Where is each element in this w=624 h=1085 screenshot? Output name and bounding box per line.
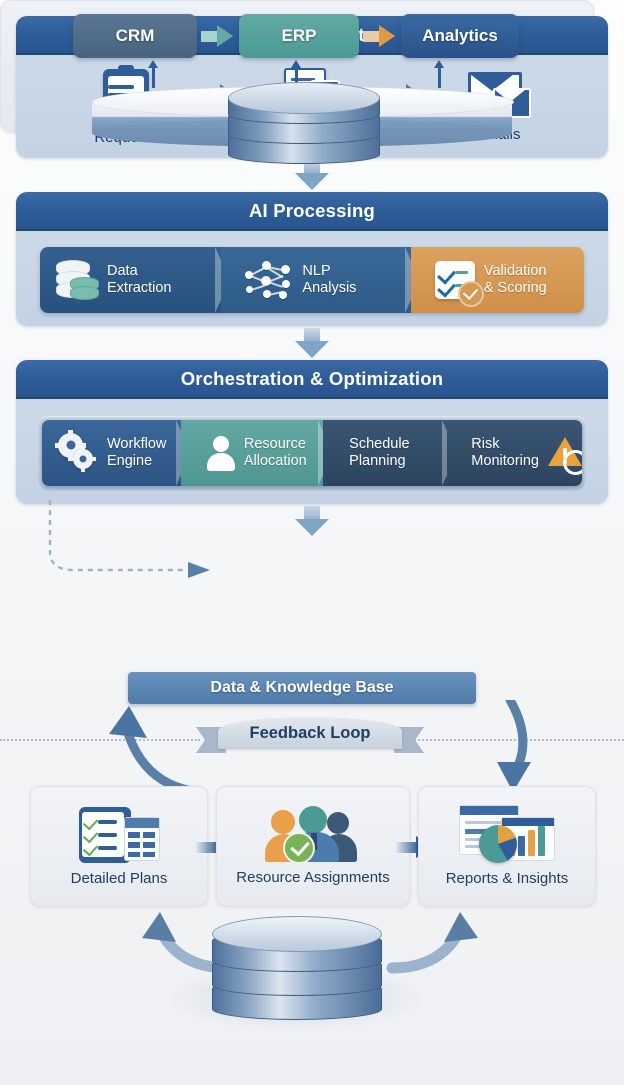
ai-stage-label-2: Validation & Scoring (484, 263, 547, 295)
orchestration-stage-strip: Workflow Engine Resource Allocation Sche… (42, 420, 582, 486)
feedback-loop-label: Feedback Loop (218, 717, 402, 749)
output-label-reports-insights: Reports & Insights (446, 870, 569, 887)
down-arrow-ai-to-orchestration (295, 328, 329, 358)
feedback-arrow-right (415, 700, 545, 795)
feedback-loop-ribbon: Feedback Loop (196, 717, 424, 761)
database-stack-icon (56, 259, 98, 301)
people-check-icon (265, 806, 361, 862)
ai-stage-nlp-analysis[interactable]: NLP Analysis (221, 247, 418, 313)
ai-stage-label-1: NLP Analysis (302, 263, 356, 295)
clipboard-table-icon (77, 805, 161, 863)
charts-icon (457, 805, 557, 863)
orch-stage-label-0: Workflow Engine (107, 436, 166, 468)
ai-stage-label-0: Data Extraction (107, 263, 171, 295)
ai-processing-body: Data Extraction (16, 231, 608, 326)
orch-stage-resource-allocation[interactable]: Resource Allocation (181, 420, 332, 486)
gears-icon (58, 433, 98, 473)
central-database-icon (228, 82, 378, 170)
output-label-resource-assignments: Resource Assignments (236, 869, 389, 886)
orch-stage-workflow-engine[interactable]: Workflow Engine (42, 420, 190, 486)
ai-stage-strip: Data Extraction (40, 247, 584, 313)
pie-chart-icon (479, 825, 517, 863)
systems-row: CRM ERP Analytics (0, 14, 592, 58)
system-arrow-erp-to-analytics (359, 25, 401, 47)
neural-network-icon (245, 259, 293, 301)
ai-stage-validation-scoring[interactable]: Validation & Scoring (411, 247, 584, 313)
up-arrow-to-analytics (434, 60, 444, 88)
orch-stage-label-3: Risk Monitoring (471, 436, 539, 468)
section-ai-processing: AI Processing Data Extraction (16, 192, 608, 326)
diagram-canvas: Project Inputs Requests (0, 0, 624, 1085)
output-card-reports-insights[interactable]: Reports & Insights (418, 786, 596, 906)
output-card-resource-assignments[interactable]: Resource Assignments (216, 786, 410, 906)
down-arrow-orchestration-to-systems (295, 506, 329, 536)
person-icon (207, 435, 235, 471)
orch-stage-risk-monitoring[interactable]: Risk Monitoring (447, 420, 582, 486)
bottom-arc-arrow-right (382, 912, 492, 982)
warning-magnifier-icon (548, 437, 582, 468)
system-arrow-crm-to-erp (197, 25, 239, 47)
orch-stage-label-2: Schedule Planning (349, 436, 409, 468)
output-label-detailed-plans: Detailed Plans (71, 870, 168, 887)
output-card-detailed-plans[interactable]: Detailed Plans (30, 786, 208, 906)
orch-stage-schedule-planning[interactable]: Schedule Planning (323, 420, 456, 486)
orchestration-strip-wrap: Workflow Engine Resource Allocation Sche… (38, 416, 586, 490)
database-cylinder-icon (212, 916, 380, 1034)
checklist-badge-icon (435, 261, 475, 299)
section-header-ai-processing: AI Processing (16, 192, 608, 231)
orchestration-body: Workflow Engine Resource Allocation Sche… (16, 399, 608, 504)
ai-stage-data-extraction[interactable]: Data Extraction (40, 247, 229, 313)
system-box-erp[interactable]: ERP (239, 14, 359, 58)
up-arrow-to-crm (148, 60, 158, 88)
section-header-orchestration: Orchestration & Optimization (16, 360, 608, 399)
dashed-connector-to-crm (40, 500, 230, 590)
orch-stage-label-1: Resource Allocation (244, 436, 307, 468)
system-box-crm[interactable]: CRM (73, 14, 197, 58)
system-box-analytics[interactable]: Analytics (401, 14, 519, 58)
section-orchestration: Orchestration & Optimization (16, 360, 608, 504)
